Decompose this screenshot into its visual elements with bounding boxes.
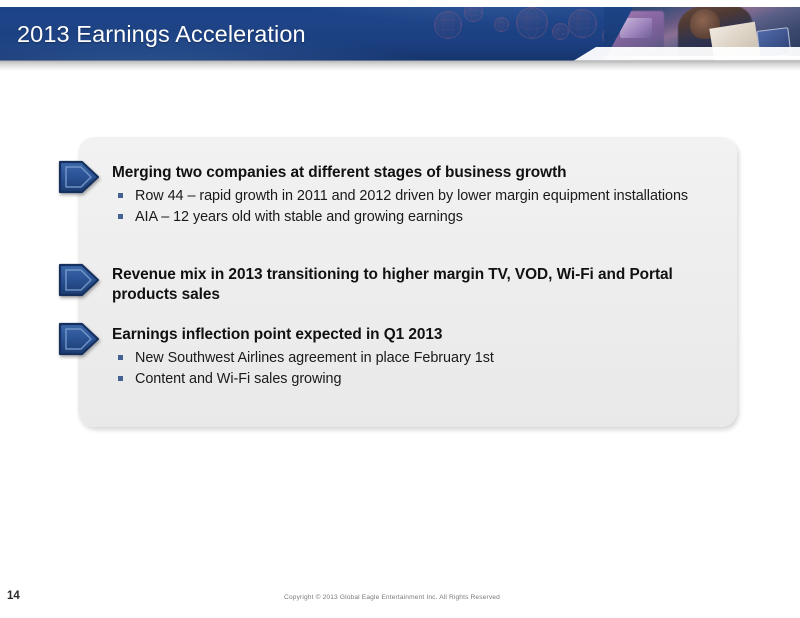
page-title: 2013 Earnings Acceleration <box>17 21 306 48</box>
header-underbar <box>0 61 800 71</box>
chevron-marker-icon-1 <box>58 160 100 194</box>
sub-bullet-list-1: Row 44 – rapid growth in 2011 and 2012 d… <box>112 186 717 228</box>
chevron-marker-icon-2 <box>58 263 100 297</box>
sub-bullet-item: Row 44 – rapid growth in 2011 and 2012 d… <box>112 186 717 206</box>
chevron-marker-icon-3 <box>58 322 100 356</box>
square-bullet-icon <box>118 214 123 219</box>
content-block-1: Merging two companies at different stage… <box>112 163 717 228</box>
sub-bullet-text: AIA – 12 years old with stable and growi… <box>135 209 463 225</box>
square-bullet-icon <box>118 355 123 360</box>
sub-bullet-text: Row 44 – rapid growth in 2011 and 2012 d… <box>135 188 688 204</box>
sub-bullet-text: Content and Wi-Fi sales growing <box>135 371 341 387</box>
block-heading-3: Earnings inflection point expected in Q1… <box>112 325 717 345</box>
sub-bullet-item: New Southwest Airlines agreement in plac… <box>112 348 717 368</box>
sub-bullet-item: Content and Wi-Fi sales growing <box>112 369 717 389</box>
slide-header-banner: 2013 Earnings Acceleration <box>0 7 800 61</box>
copyright-notice: Copyright © 2013 Global Eagle Entertainm… <box>0 594 792 601</box>
square-bullet-icon <box>118 193 123 198</box>
sub-bullet-text: New Southwest Airlines agreement in plac… <box>135 350 494 366</box>
block-heading-1: Merging two companies at different stage… <box>112 163 717 183</box>
sub-bullet-list-3: New Southwest Airlines agreement in plac… <box>112 348 717 390</box>
sub-bullet-item: AIA – 12 years old with stable and growi… <box>112 207 717 227</box>
block-heading-2: Revenue mix in 2013 transitioning to hig… <box>112 265 712 305</box>
square-bullet-icon <box>118 376 123 381</box>
slide: 2013 Earnings Acceleration <box>0 0 800 618</box>
content-block-2: Revenue mix in 2013 transitioning to hig… <box>112 265 712 305</box>
header-white-swoosh-highlight <box>585 56 800 59</box>
content-block-3: Earnings inflection point expected in Q1… <box>112 325 717 390</box>
